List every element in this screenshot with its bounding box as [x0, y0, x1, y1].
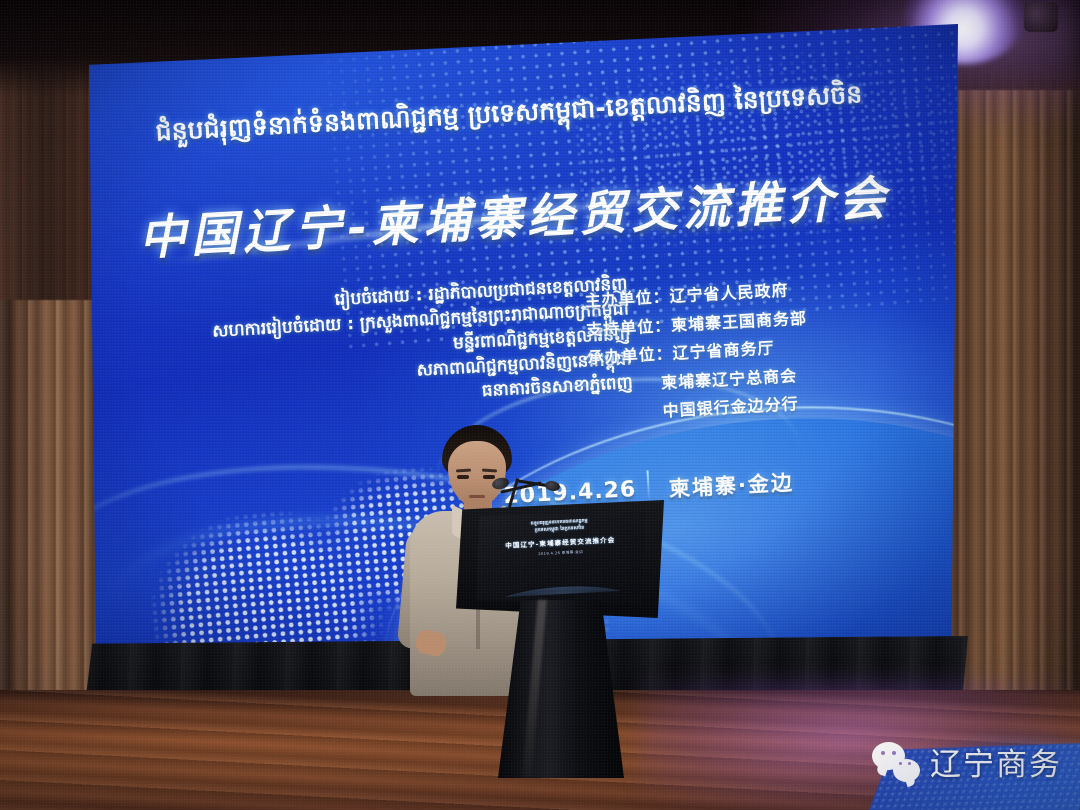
- organizer-value: 柬埔寨辽宁总商会: [661, 366, 798, 392]
- podium-front-panel: ជំនួបជំរុញទំនាក់ទំនងពាណិជ្ជកម្ម ប្រទេសកម…: [476, 512, 646, 604]
- speaker-eye-right: [483, 475, 495, 479]
- watermark: 辽宁商务: [872, 739, 1062, 784]
- organizer-value: 辽宁省人民政府: [669, 281, 789, 306]
- wechat-eye-2: [892, 751, 896, 755]
- organizer-value: 辽宁省商务厅: [672, 339, 775, 363]
- banner-khmer-title: ជំនួបជំរុញទំនាក់ទំនងពាណិជ្ជកម្ម ប្រទេសកម…: [90, 74, 928, 150]
- banner-date-separator: [646, 470, 650, 500]
- podium-sign: ជំនួបជំរុញទំនាក់ទំនងពាណិជ្ជកម្ម ប្រទេសកម…: [484, 516, 638, 598]
- wechat-eye-1: [881, 751, 885, 755]
- lighting-fixture: [1024, 2, 1058, 32]
- speaker-eye-left: [457, 475, 469, 479]
- stage-photo-scene: ជំនួបជំរុញទំនាក់ទំនងពាណិជ្ជកម្ម ប្រទេសកម…: [0, 0, 1080, 810]
- wechat-bubble-small: [893, 759, 920, 782]
- organizer-label: 主办单位：: [584, 287, 670, 311]
- wechat-eye-4: [908, 762, 911, 765]
- banner-chinese-organizers: 主办单位：辽宁省人民政府 支持单位：柬埔寨王国商务部 承办单位：辽宁省商务厅 柬…: [584, 271, 905, 430]
- podium-globe-graphic: [484, 582, 638, 598]
- organizer-value: 中国银行金边分行: [662, 394, 799, 420]
- organizer-label: 承办单位：: [587, 344, 673, 368]
- wechat-eye-3: [899, 762, 902, 765]
- organizer-value: 柬埔寨王国商务部: [671, 308, 808, 334]
- speaker-mouth: [469, 495, 485, 498]
- banner-chinese-title: 中国辽宁-柬埔寨经贸交流推介会: [103, 157, 925, 270]
- wechat-icon: [872, 742, 920, 782]
- watermark-account-name: 辽宁商务: [930, 739, 1062, 784]
- banner-place: 柬埔寨·金边: [668, 467, 794, 504]
- organizer-label: 支持单位：: [586, 316, 672, 340]
- banner-khmer-organizers: រៀបចំដោយ : រដ្ឋាភិបាលប្រជាជនខេត្តលាវនិញ …: [104, 272, 633, 424]
